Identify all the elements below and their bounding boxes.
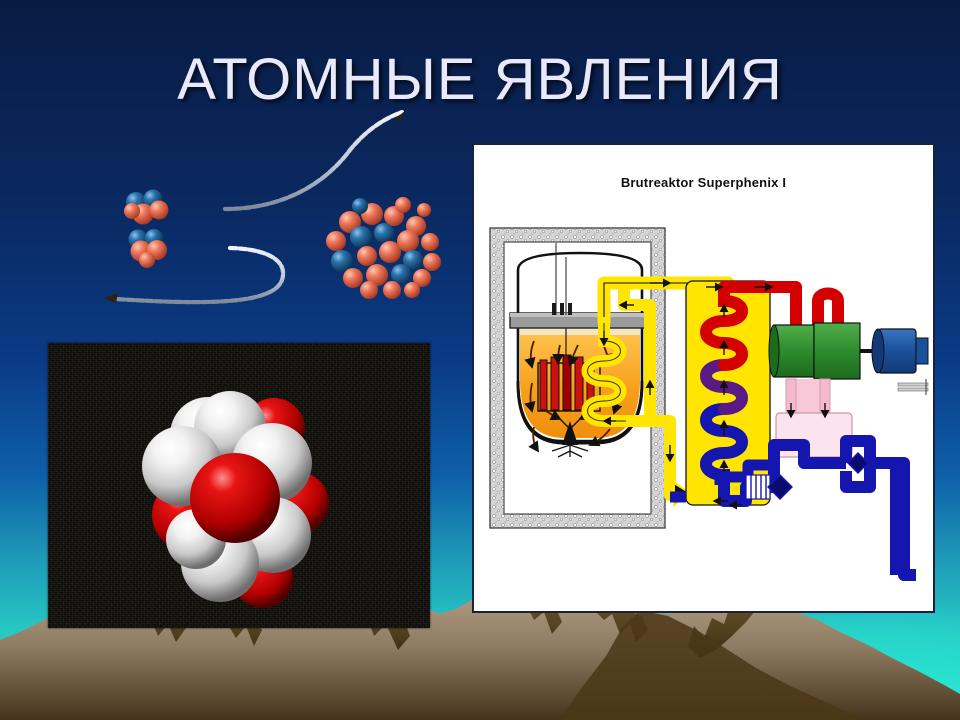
target-nucleus <box>325 197 441 299</box>
alpha-track-lower <box>54 248 283 303</box>
sphere-red-center <box>190 453 280 543</box>
presentation-slide: АТОМНЫЕ ЯВЛЕНИЯ <box>0 0 960 720</box>
deck-plate <box>510 313 650 328</box>
steam-generator <box>686 281 770 505</box>
feedwater-heater <box>746 475 770 499</box>
alpha-scattering-figure <box>20 110 460 325</box>
nucleus-photo-panel <box>48 343 430 628</box>
turbine <box>769 323 860 379</box>
generator <box>872 329 928 373</box>
page-title: АТОМНЫЕ ЯВЛЕНИЯ <box>0 46 960 113</box>
alpha-particle-upper <box>124 190 169 225</box>
alpha-track-upper <box>38 110 406 209</box>
alpha-particle-lower <box>129 229 168 268</box>
reactor-schematic <box>474 145 933 611</box>
transmission-line <box>898 379 928 395</box>
reactor-diagram-panel: Brutreaktor Superphenix I <box>472 143 935 613</box>
nucleus-sphere-model <box>48 343 430 628</box>
